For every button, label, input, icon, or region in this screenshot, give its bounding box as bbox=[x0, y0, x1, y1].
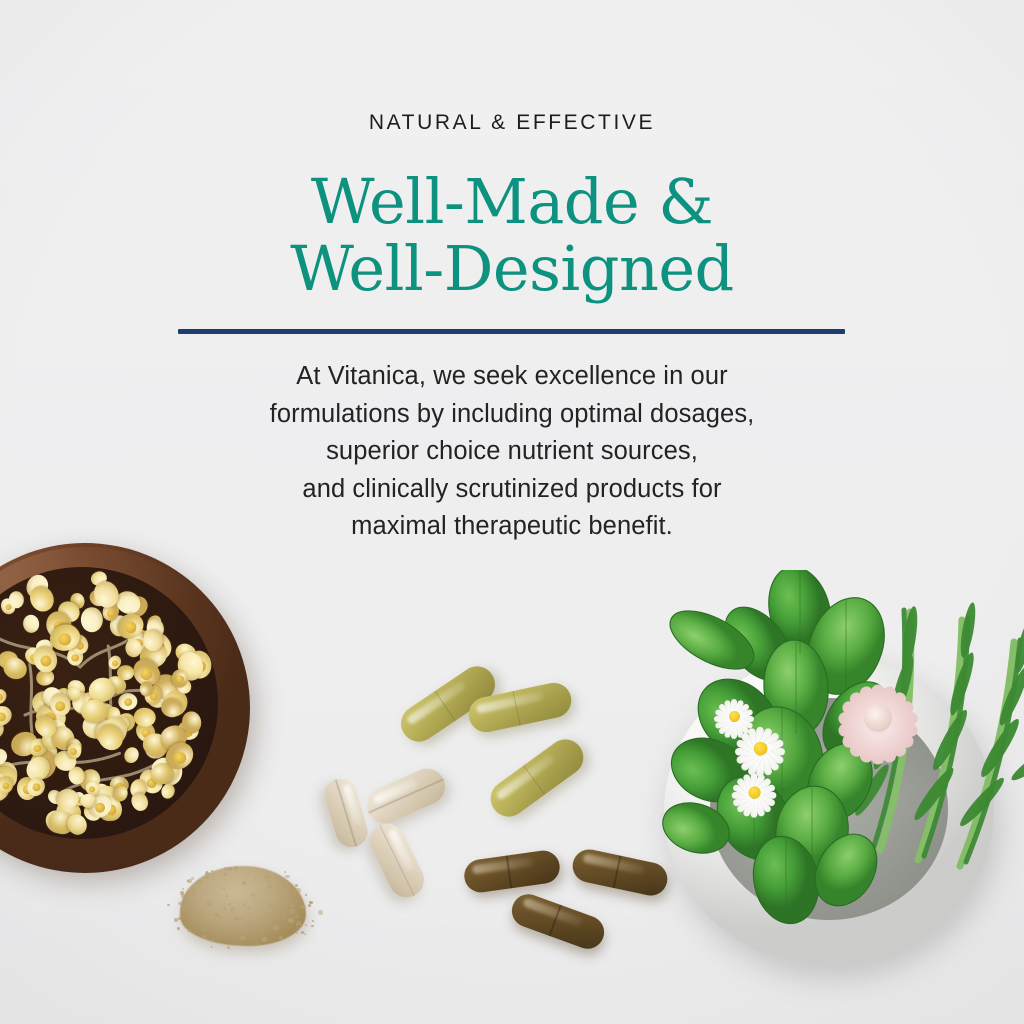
eyebrow-label: NATURAL & EFFECTIVE bbox=[0, 110, 1024, 136]
divider-rule bbox=[178, 329, 845, 334]
body-line-3: superior choice nutrient sources, bbox=[0, 433, 1024, 471]
brown-capsule-1 bbox=[462, 848, 562, 894]
body-paragraph: At Vitanica, we seek excellence in our f… bbox=[0, 358, 1024, 546]
body-line-1: At Vitanica, we seek excellence in our bbox=[0, 358, 1024, 396]
cream-tablet-1 bbox=[320, 775, 371, 851]
headline-line-1: Well-Made & bbox=[0, 168, 1024, 235]
green-capsule-3 bbox=[484, 732, 591, 823]
cream-tablet-3 bbox=[364, 818, 430, 903]
daisy-flower-2 bbox=[735, 723, 785, 773]
pink-flower-head bbox=[836, 676, 920, 760]
promo-banner: NATURAL & EFFECTIVE Well-Made & Well-Des… bbox=[0, 0, 1024, 1024]
mint-leaves bbox=[650, 570, 970, 930]
body-line-5: maximal therapeutic benefit. bbox=[0, 508, 1024, 546]
brown-capsule-3 bbox=[507, 890, 608, 954]
mortar-and-pestle-photo bbox=[640, 560, 1024, 1024]
body-line-2: formulations by including optimal dosage… bbox=[0, 396, 1024, 434]
headline-line-2: Well-Designed bbox=[0, 235, 1024, 302]
page-title: Well-Made & Well-Designed bbox=[0, 168, 1024, 302]
cream-tablet-2 bbox=[361, 763, 451, 829]
body-line-4: and clinically scrutinized products for bbox=[0, 471, 1024, 509]
daisy-flower-3 bbox=[732, 770, 777, 815]
